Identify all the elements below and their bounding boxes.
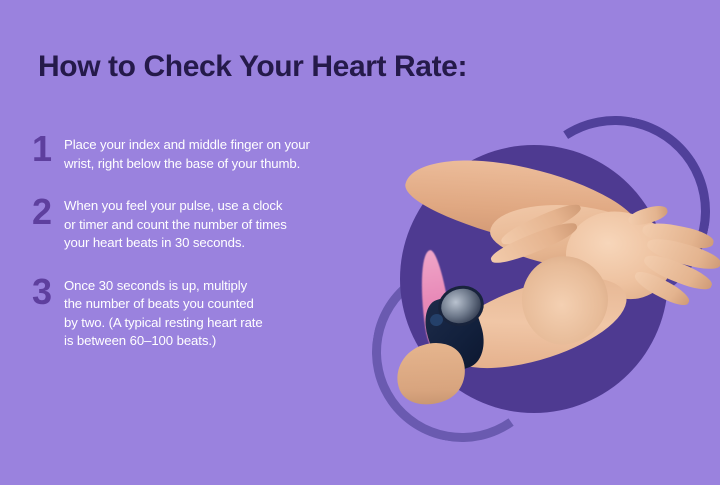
step-text: Place your index and middle finger on yo…: [64, 132, 392, 173]
photo-circle-backdrop: [400, 145, 668, 413]
step-number: 3: [32, 275, 64, 309]
page-title: How to Check Your Heart Rate:: [38, 50, 467, 84]
list-item: 3 Once 30 seconds is up, multiply the nu…: [32, 275, 392, 351]
step-number: 2: [32, 195, 64, 229]
step-text-line: or timer and count the number of times: [64, 216, 392, 235]
list-item: 2 When you feel your pulse, use a clock …: [32, 195, 392, 253]
step-text-line: Once 30 seconds is up, multiply: [64, 277, 392, 296]
steps-list: 1 Place your index and middle finger on …: [32, 132, 392, 373]
step-text-line: by two. (A typical resting heart rate: [64, 314, 392, 333]
step-text-line: the number of beats you counted: [64, 295, 392, 314]
step-text: When you feel your pulse, use a clock or…: [64, 195, 392, 253]
step-text-line: When you feel your pulse, use a clock: [64, 197, 392, 216]
step-text: Once 30 seconds is up, multiply the numb…: [64, 275, 392, 351]
pulse-check-photo: [370, 108, 720, 448]
step-text-line: your heart beats in 30 seconds.: [64, 234, 392, 253]
infographic-canvas: How to Check Your Heart Rate: 1 Place yo…: [0, 0, 720, 485]
list-item: 1 Place your index and middle finger on …: [32, 132, 392, 173]
pink-petal-shape: [415, 249, 456, 360]
step-text-line: wrist, right below the base of your thum…: [64, 155, 392, 174]
step-text-line: Place your index and middle finger on yo…: [64, 136, 392, 155]
step-text-line: is between 60–100 beats.): [64, 332, 392, 351]
step-number: 1: [32, 132, 64, 166]
